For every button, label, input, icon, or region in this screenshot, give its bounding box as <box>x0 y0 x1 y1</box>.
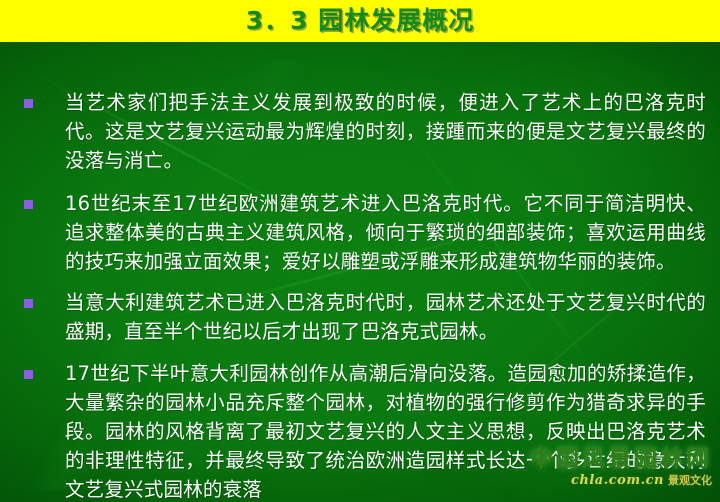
bullet-list-item: 当意大利建筑艺术已进入巴洛克时代时，园林艺术还处于文艺复兴时代的盛期，直至半个世… <box>0 288 720 346</box>
square-bullet-icon <box>24 200 33 209</box>
square-bullet-icon <box>24 370 33 379</box>
presentation-slide: 3．3 园林发展概况 当艺术家们把手法主义发展到极致的时候，便进入了艺术上的巴洛… <box>0 0 720 502</box>
bullet-list-item: 当艺术家们把手法主义发展到极致的时候，便进入了艺术上的巴洛克时代。这是文艺复兴运… <box>0 88 720 175</box>
bullet-item-text: 当意大利建筑艺术已进入巴洛克时代时，园林艺术还处于文艺复兴时代的盛期，直至半个世… <box>65 288 706 346</box>
bullet-list-item: 16世纪末至17世纪欧洲建筑艺术进入巴洛克时代。它不同于简洁明快、追求整体美的古… <box>0 189 720 276</box>
watermark-site-url-row: chla.com.cn景观文化 <box>502 474 712 487</box>
watermark-site-url: chla.com.cn <box>571 473 664 488</box>
square-bullet-icon <box>24 99 33 108</box>
slide-title: 3．3 园林发展概况 <box>0 0 720 42</box>
slide-title-bar: 3．3 园林发展概况 <box>0 0 720 42</box>
watermark-tagline: 景观文化 <box>668 474 712 487</box>
site-watermark: 中国风景园林网 chla.com.cn景观文化 <box>502 448 712 498</box>
watermark-site-name: 中国风景园林网 <box>502 448 712 471</box>
square-bullet-icon <box>24 299 33 308</box>
bullet-item-text: 16世纪末至17世纪欧洲建筑艺术进入巴洛克时代。它不同于简洁明快、追求整体美的古… <box>65 189 706 276</box>
slide-body: 当艺术家们把手法主义发展到极致的时候，便进入了艺术上的巴洛克时代。这是文艺复兴运… <box>0 42 720 502</box>
bullet-item-text: 当艺术家们把手法主义发展到极致的时候，便进入了艺术上的巴洛克时代。这是文艺复兴运… <box>65 88 706 175</box>
